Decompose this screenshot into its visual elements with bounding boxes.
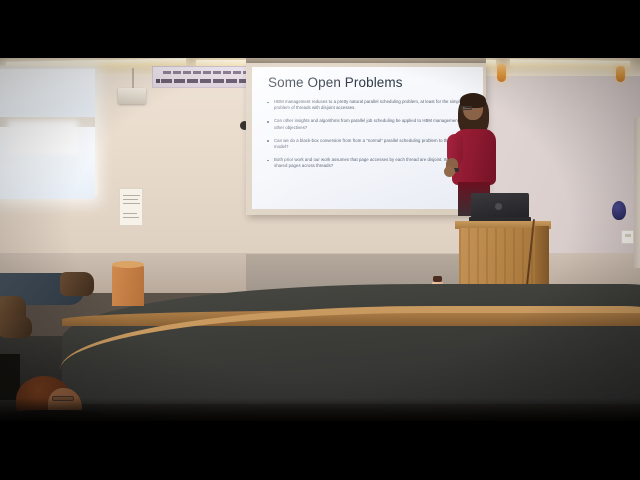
sign-text-line — [123, 195, 140, 196]
banner-title-line — [161, 79, 249, 83]
slide-title: Some Open Problems — [268, 75, 403, 90]
wall-plate-slot — [625, 234, 631, 237]
trash-can — [112, 264, 144, 306]
laptop-logo-icon — [495, 203, 502, 210]
audience-shoe — [60, 272, 94, 296]
camera-mount-pole — [132, 68, 134, 90]
wall-banner — [152, 66, 255, 88]
video-frame: Some Open Problems HBM management reduce… — [0, 0, 640, 480]
sign-text-line — [123, 203, 140, 204]
presenter-hand — [444, 166, 455, 177]
foreground-shadow — [0, 398, 640, 421]
letterbox-bottom — [0, 421, 640, 480]
pendant-lamp-icon — [497, 64, 506, 82]
banner-bullet-icon — [156, 79, 160, 83]
banner-text-line — [163, 71, 247, 74]
wall-plate — [621, 230, 634, 244]
ceiling-camera-icon — [118, 88, 146, 104]
wall-sign — [119, 188, 143, 226]
video-content-area: Some Open Problems HBM management reduce… — [0, 58, 640, 421]
trash-can-rim — [112, 261, 144, 268]
wall-speaker — [612, 201, 626, 220]
letterbox-top — [0, 0, 640, 58]
window-glare — [8, 120, 78, 154]
window-pane-upper — [0, 69, 95, 119]
sign-text-line — [123, 199, 138, 200]
pendant-lamp-icon — [616, 66, 625, 82]
glasses-icon — [461, 106, 472, 110]
sign-text-line — [123, 217, 139, 218]
sign-text-line — [123, 213, 137, 214]
audience-shoe — [0, 316, 32, 338]
door-edge — [634, 118, 640, 268]
